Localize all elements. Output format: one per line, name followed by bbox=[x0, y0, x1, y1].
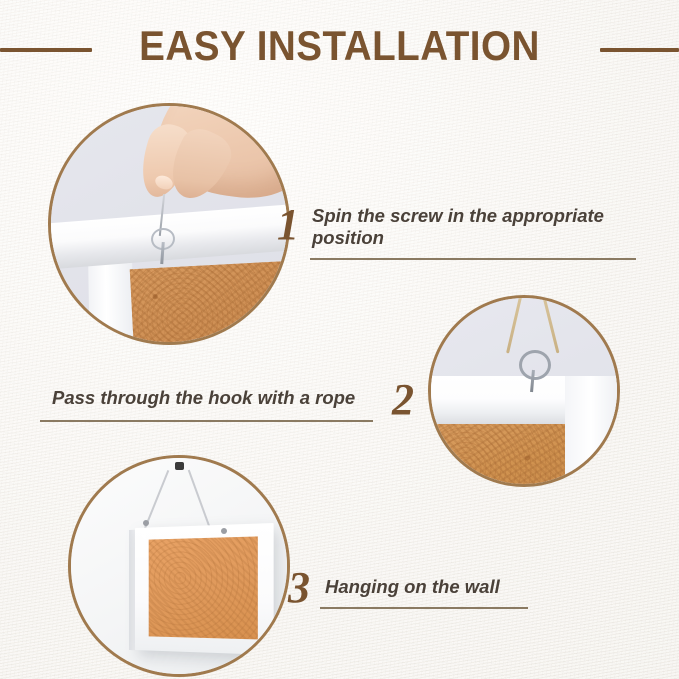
eye-hook-right bbox=[221, 528, 227, 534]
wall-nail-icon bbox=[175, 462, 184, 470]
header: EASY INSTALLATION bbox=[0, 0, 679, 100]
step-1-underline bbox=[310, 258, 636, 260]
framed-cork-board bbox=[135, 523, 274, 655]
eye-hook-left bbox=[143, 520, 149, 526]
step-1-scene bbox=[51, 106, 287, 342]
step-2-label: Pass through the hook with a rope bbox=[52, 387, 382, 409]
step-2-number: 2 bbox=[392, 378, 414, 422]
step-2-photo bbox=[428, 295, 620, 487]
title-rule-right bbox=[600, 48, 679, 52]
step-1-photo bbox=[48, 103, 290, 345]
cork-surface bbox=[130, 259, 287, 342]
step-3-number: 3 bbox=[288, 566, 310, 610]
step-3-label: Hanging on the wall bbox=[325, 576, 605, 598]
step-2-scene bbox=[431, 298, 617, 484]
step-1-number: 1 bbox=[277, 203, 299, 247]
cork-surface bbox=[149, 536, 258, 639]
step-3-scene bbox=[71, 458, 287, 674]
eye-hook-icon bbox=[519, 350, 551, 380]
step-3-underline bbox=[320, 607, 528, 609]
page-title: EASY INSTALLATION bbox=[27, 22, 652, 70]
cork-surface bbox=[431, 424, 569, 484]
step-1-label: Spin the screw in the appropriate positi… bbox=[312, 205, 642, 249]
step-3-photo bbox=[68, 455, 290, 677]
frame-right-rail bbox=[565, 376, 617, 484]
step-2-underline bbox=[40, 420, 373, 422]
